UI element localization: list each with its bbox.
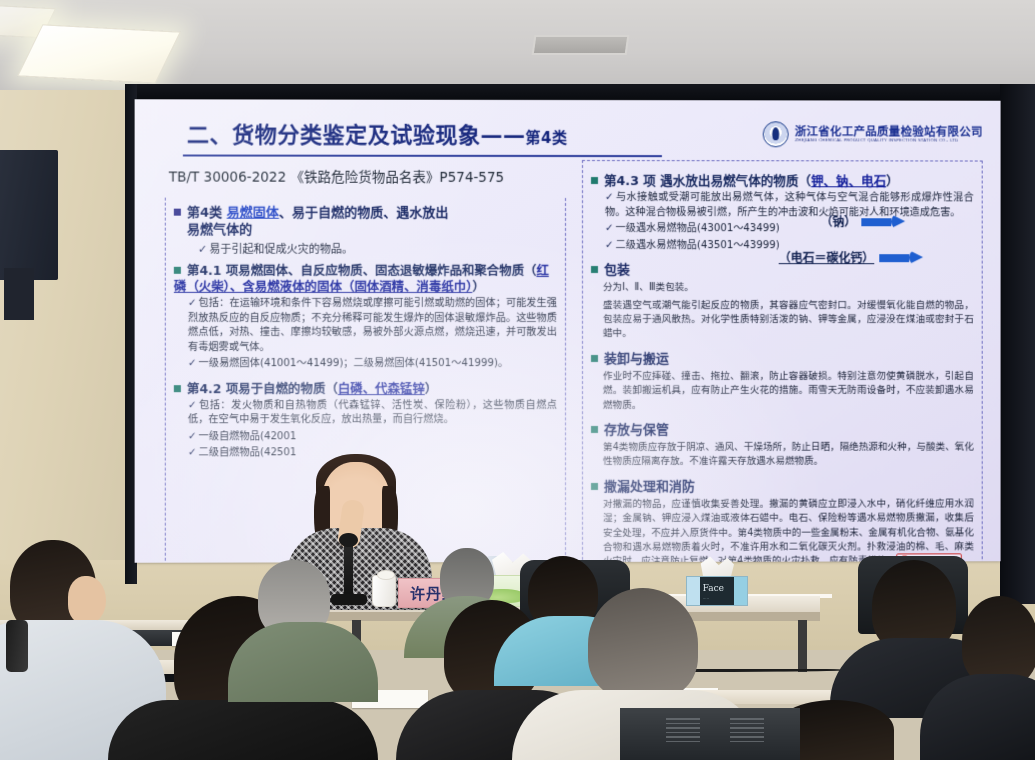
storage-text: 第4类物质应存放于阴凉、通风、干燥场所，防止日晒，隔绝热源和火种，与酸类、氧化性… [603, 441, 974, 470]
bullet-square-icon [591, 266, 598, 273]
slide-title-main: 二、货物分类鉴定及试验现象—— [187, 123, 526, 149]
standard-reference: TB/T 30006-2022 《铁路危险货物品名表》P574-575 [169, 166, 504, 186]
conference-room-scene: ····· 二、货物分类鉴定及试验现象——第4类 浙江省化工产品质量检验站有限公… [0, 0, 1035, 760]
projection-screen: 二、货物分类鉴定及试验现象——第4类 浙江省化工产品质量检验站有限公司 ZHEJ… [135, 99, 1001, 563]
item-4-2-description: 包括：发火物质和自热物质（代森锰锌、活性炭、保险粉），这些物质自燃点低，在空气中… [188, 399, 557, 428]
tissue-box-dark: Face ····· [686, 576, 748, 606]
item-4-1-grades: 一级易燃固体(41001～41499)；二级易燃固体(41501～41999)。 [188, 357, 557, 372]
title-underline [183, 154, 662, 157]
item-4-2-grade-1: 一级自燃物品(42001 [188, 430, 557, 445]
ceiling-light-panel [17, 24, 181, 83]
company-name-en: ZHEJIANG CHEMICAL PRODUCT QUALITY INSPEC… [795, 138, 983, 143]
right-arrow-icon [879, 250, 923, 265]
screen-right-bezel [1000, 84, 1035, 604]
slide-header: 二、货物分类鉴定及试验现象——第4类 浙江省化工产品质量检验站有限公司 ZHEJ… [135, 107, 1001, 152]
sodium-arrow-callout: （钠） [821, 213, 906, 230]
class4-heading: 第4类 易燃固体、易于自燃的物质、遇水放出 易燃气体的 [174, 205, 557, 240]
item-4-1-heading: 第4.1 项易燃固体、自反应物质、固态退敏爆炸品和聚合物质（红磷（火柴）、含易燃… [174, 263, 557, 295]
vent-lines-icon [730, 718, 764, 745]
desk-leg [798, 620, 807, 672]
right-arrow-icon [861, 214, 905, 229]
carbide-label: （电石＝碳化钙） [779, 249, 875, 266]
item-4-3-description: 与水接触或受潮可能放出易燃气体，这种气体与空气混合能够形成爆炸性混合物。这种混合… [605, 191, 974, 220]
company-emblem-icon [763, 121, 789, 147]
thermos-bottle [6, 620, 28, 672]
bullet-square-icon [591, 483, 598, 490]
tissue-brand-label: Face [703, 584, 724, 594]
packaging-line-1: 分为Ⅰ、Ⅱ、Ⅲ类包装。 [603, 281, 974, 295]
wall-speaker: ····· [0, 150, 58, 280]
loading-text: 作业时不应摔碰、撞击、拖拉、翻滚，防止容器破损。特别注意勿使黄磷脱水，引起自燃。… [603, 370, 974, 413]
item-4-3-grade-1: 一级遇水易燃物品(43001～43499) [605, 222, 820, 237]
bullet-square-icon [591, 355, 598, 362]
item-4-3-heading: 第4.3 项 遇水放出易燃气体的物质（钾、钠、电石） [591, 173, 974, 190]
item-4-1-description: 包括：在运输环境和条件下容易燃烧或摩擦可能引燃或助燃的固体；可能发生强烈放热反应… [188, 297, 557, 355]
microphone-base [331, 594, 367, 605]
vent-lines-icon [666, 718, 700, 745]
company-logo: 浙江省化工产品质量检验站有限公司 ZHEJIANG CHEMICAL PRODU… [763, 121, 983, 147]
carbide-arrow-callout: （电石＝碳化钙） [779, 249, 923, 266]
bullet-square-icon [174, 267, 181, 274]
slide-title: 二、货物分类鉴定及试验现象——第4类 [187, 117, 568, 150]
speaker-mount-bracket [4, 268, 34, 320]
microphone [344, 540, 353, 598]
slide-right-column: 第4.3 项 遇水放出易燃气体的物质（钾、钠、电石） 与水接触或受潮可能放出易燃… [582, 160, 983, 563]
sodium-label: （钠） [821, 213, 857, 230]
section-spill: 撒漏处理和消防 [591, 475, 974, 494]
section-storage: 存放与保管 [591, 419, 974, 438]
ceiling-air-vent [532, 35, 630, 55]
bullet-square-icon [591, 177, 598, 184]
packaging-line-2: 盛装遇空气或潮气能引起反应的物质，其容器应气密封口。对缓慢氧化能自燃的物品，包装… [603, 299, 974, 342]
item-4-2-heading: 第4.2 项易于自燃的物质（白磷、代森锰锌） [174, 381, 557, 397]
slide-title-sub: 第4类 [526, 129, 568, 147]
bullet-square-icon [174, 209, 181, 216]
tea-cup [372, 575, 396, 607]
tissue-sub-label: ····· [703, 596, 710, 601]
class4-check: 易于引起和促成火灾的物品。 [198, 242, 557, 258]
bullet-square-icon [591, 426, 598, 433]
section-loading: 装卸与搬运 [591, 348, 974, 367]
bullet-square-icon [174, 385, 181, 392]
podium-equipment-panel [620, 708, 800, 760]
